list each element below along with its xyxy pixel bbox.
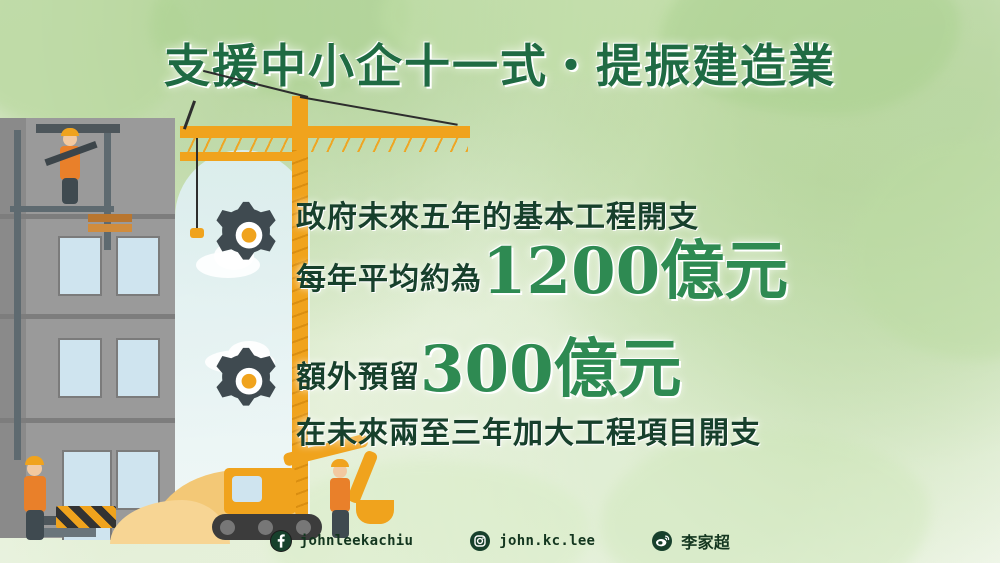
scaffold-rail [10,206,114,212]
worker-legs [62,178,78,204]
stat-line-1-prefix: 額外預留 [296,352,420,402]
window-pane [116,338,160,398]
worker-helmet [331,459,349,467]
scaffold-post [14,130,21,460]
social-item-instagram[interactable]: john.kc.lee [469,530,595,552]
gear-icon [212,342,286,416]
scaffold-post [104,130,111,250]
floor-divider [0,418,175,423]
material-stack [88,214,132,222]
social-handle-facebook: johnleekachiu [300,533,413,549]
social-handle-instagram: john.kc.lee [499,533,595,549]
social-handle-weibo: 李家超 [681,529,730,553]
worker-helmet [61,128,79,136]
instagram-icon [469,530,491,552]
worker-figure [24,476,46,512]
crane-truss [182,130,468,152]
excavator-window [232,476,262,502]
weibo-icon [651,530,673,552]
window-pane [58,236,102,296]
material-stack [88,224,132,232]
stat-amount: 1200億元 [482,240,788,304]
excavator-arm [346,450,378,505]
stat-line-2: 在未來兩至三年加大工程項目開支 [296,408,761,452]
social-bar: johnleekachiu john.kc.lee [0,519,1000,563]
floor-divider [0,314,175,319]
page-title: 支援中小企十一式・提振建造業 [0,30,1000,96]
facebook-icon [270,530,292,552]
stat-amount: 300億元 [420,338,682,402]
window-pane [116,450,160,510]
stat-extra-reserve: 額外預留 300億元 在未來兩至三年加大工程項目開支 [296,338,761,452]
window-pane [58,338,102,398]
crane-apex [296,96,305,130]
building-illustration [0,118,175,538]
stat-capital-works: 政府未來五年的基本工程開支 每年平均約為 1200億元 [296,192,788,304]
social-item-weibo[interactable]: 李家超 [651,529,730,553]
bg-splotch [850,140,1000,360]
stat-line-2: 每年平均約為 1200億元 [296,240,788,304]
window-pane [116,236,160,296]
stat-line-2-prefix: 每年平均約為 [296,254,482,304]
worker-figure [330,478,350,512]
building-shadow [0,118,26,538]
infographic-canvas: 支援中小企十一式・提振建造業 [0,0,1000,563]
stat-line-1: 額外預留 300億元 [296,338,761,402]
gear-icon [212,196,286,270]
stat-line-1: 政府未來五年的基本工程開支 [296,192,788,236]
crane-cable [300,96,458,126]
social-item-facebook[interactable]: johnleekachiu [270,530,413,552]
crane-hook [190,228,204,238]
